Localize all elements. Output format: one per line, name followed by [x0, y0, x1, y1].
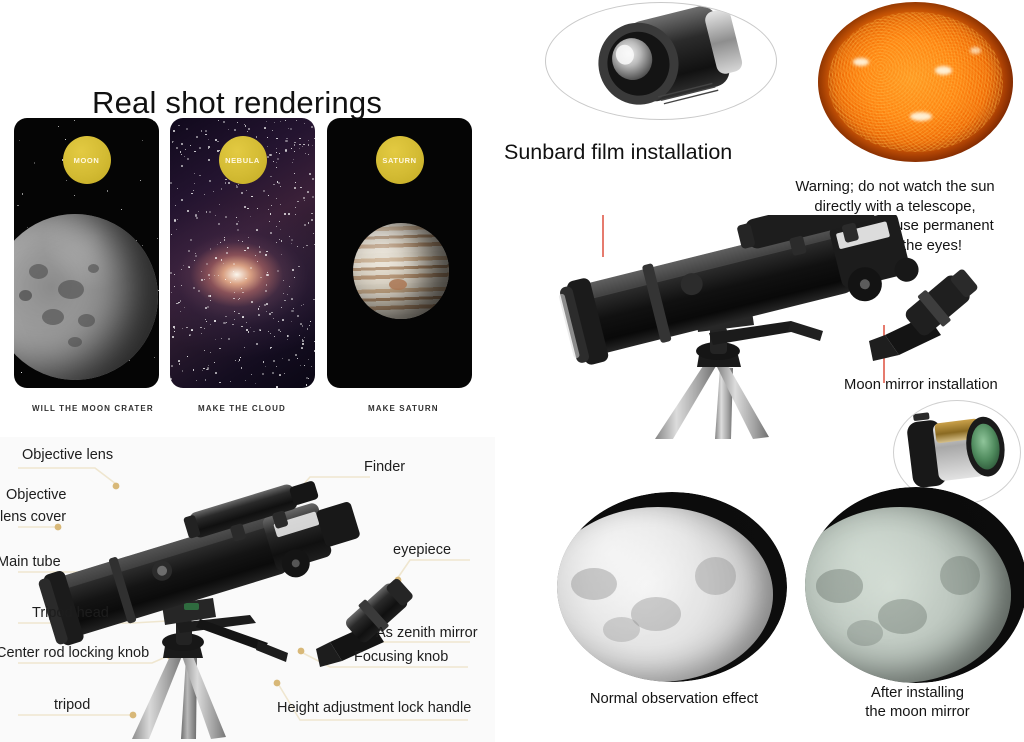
sunbard-film-installation-title: Sunbard film installation: [504, 140, 732, 165]
render-card-saturn: SATURN: [327, 118, 472, 388]
usage-and-accessories-section: Sunbard film installation Warning; do no…: [495, 0, 1024, 742]
badge-moon: MOON: [63, 136, 111, 184]
moon-with-filter-photo: [805, 487, 1024, 683]
real-shot-renderings-section: Real shot renderings MOON: [0, 0, 495, 437]
diagram-label-main-tube: Main tube: [0, 554, 61, 571]
render-card-nebula: NEBULA: [170, 118, 315, 388]
diagram-label-lens-cover: lens cover: [0, 509, 66, 526]
comparison-caption-normal: Normal observation effect: [550, 690, 798, 709]
diagram-label-height-adjustment-lock-handle: Height adjustment lock handle: [277, 700, 471, 717]
badge-saturn: SATURN: [376, 136, 424, 184]
diagram-label-eyepiece: eyepiece: [393, 542, 451, 559]
comparison-caption-filtered: After installing the moon mirror: [825, 684, 1010, 722]
render-card-moon: MOON: [14, 118, 159, 388]
badge-label: NEBULA: [225, 156, 260, 165]
badge-label: MOON: [74, 156, 100, 165]
section-title-real-shot: Real shot renderings: [92, 85, 412, 121]
diagram-label-objective: Objective: [6, 487, 66, 504]
diagram-label-tripod: tripod: [54, 697, 90, 714]
eyepiece-graphic: [546, 3, 777, 120]
render-card-caption: MAKE THE CLOUD: [198, 404, 286, 413]
warning-line: Warning; do not watch the sun: [770, 178, 1020, 198]
planet-storm-spot: [389, 279, 407, 290]
diagram-label-tripod-head: Tripod head: [32, 605, 109, 622]
telescope-parts-diagram-section: Objective lens Objective lens cover Main…: [0, 437, 495, 742]
caption-line: the moon mirror: [825, 703, 1010, 722]
sun-through-filter-photo: [818, 2, 1013, 162]
sun-granulation-texture: [828, 12, 1004, 153]
diagram-label-center-rod-locking-knob: Center rod locking knob: [0, 645, 149, 662]
diagram-label-objective-lens: Objective lens: [22, 447, 113, 464]
planet-disc: [353, 223, 449, 319]
render-card-caption: MAKE SATURN: [368, 404, 439, 413]
moon-mirror-installation-label: Moon mirror installation: [844, 377, 998, 393]
badge-nebula: NEBULA: [219, 136, 267, 184]
infographic-page: Real shot renderings MOON: [0, 0, 1024, 742]
diagram-label-finder: Finder: [364, 459, 405, 476]
caption-line: After installing: [825, 684, 1010, 703]
badge-label: SATURN: [382, 156, 416, 165]
diagram-label-as-zenith-mirror: As zenith mirror: [376, 625, 478, 642]
eyepiece-closeup-photo: [545, 2, 777, 120]
diagram-label-focusing-knob: Focusing knob: [354, 649, 448, 666]
render-card-caption: WILL THE MOON CRATER: [32, 404, 154, 413]
moon-normal-observation-photo: [557, 492, 787, 682]
